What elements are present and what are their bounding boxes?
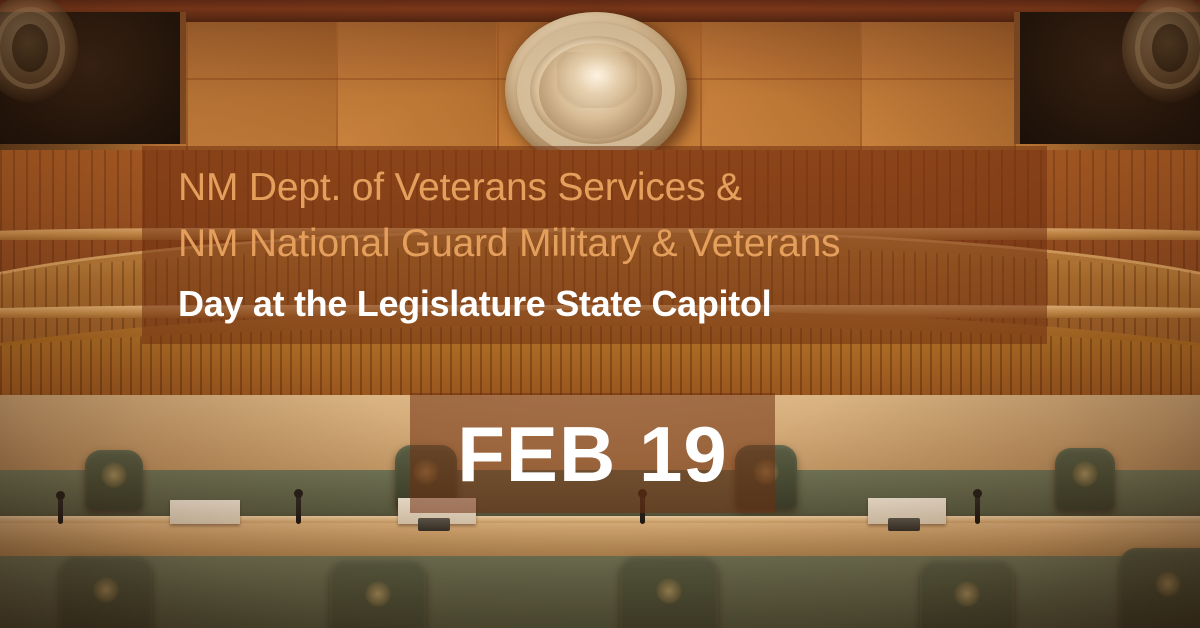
microphone [975, 494, 980, 524]
headline-line-3: Day at the Legislature State Capitol [178, 278, 1058, 330]
senator-chair [60, 556, 152, 628]
microphone [58, 496, 63, 524]
event-date-badge: FEB 19 [410, 398, 775, 510]
desk-nameplate [418, 518, 450, 531]
senator-chair [620, 556, 718, 628]
senator-chair [330, 560, 426, 628]
desk-front-panel [0, 556, 1200, 628]
senator-chair [1055, 448, 1115, 510]
name-placard [170, 500, 240, 524]
desk-nameplate [888, 518, 920, 531]
headline-block: NM Dept. of Veterans Services & NM Natio… [178, 160, 1058, 330]
headline-line-2: NM National Guard Military & Veterans [178, 216, 1058, 272]
senator-chair [920, 560, 1014, 628]
senator-chair [85, 450, 143, 510]
microphone [296, 494, 301, 524]
seal-eagle [557, 52, 637, 108]
senator-chair [1120, 548, 1200, 628]
event-poster: NM Dept. of Veterans Services & NM Natio… [0, 0, 1200, 628]
headline-line-1: NM Dept. of Veterans Services & [178, 160, 1058, 216]
